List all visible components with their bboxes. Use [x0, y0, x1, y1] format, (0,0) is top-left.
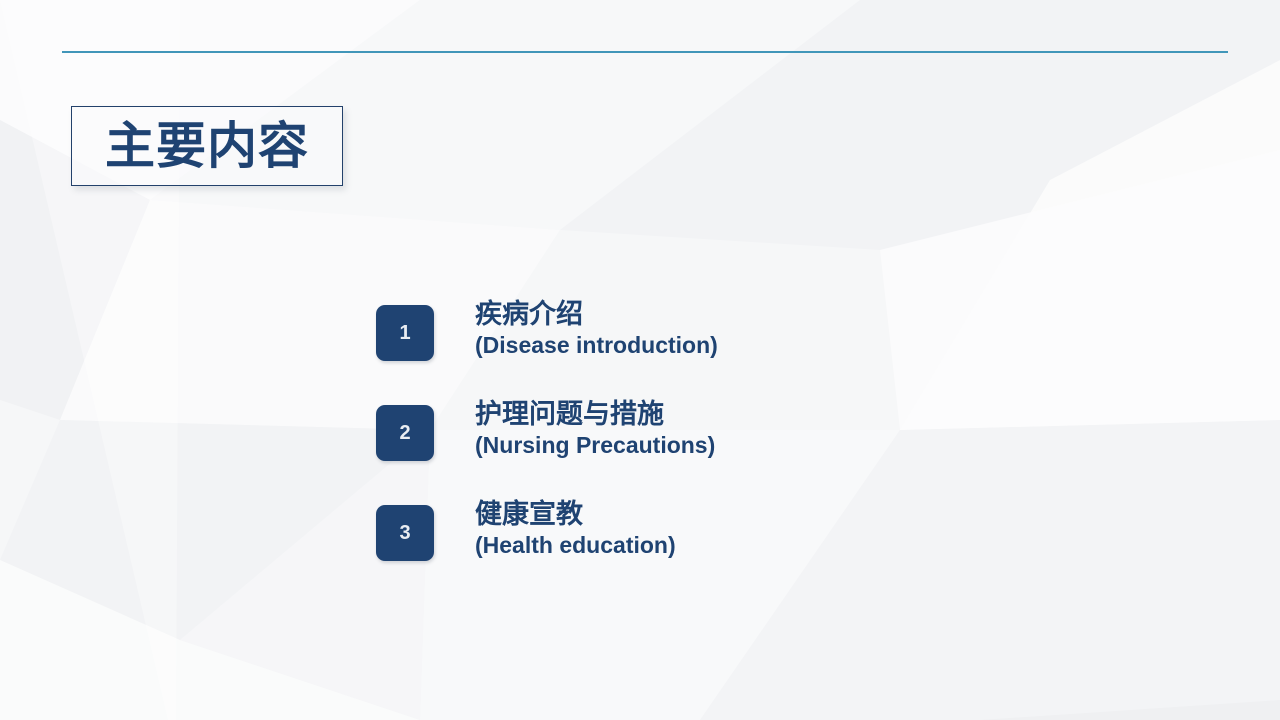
agenda-number-badge: 1 — [376, 305, 434, 361]
page-title: 主要内容 — [105, 121, 309, 171]
agenda-item-title-cn: 疾病介绍 — [475, 299, 718, 331]
agenda-list: 1 疾病介绍 (Disease introduction) 2 护理问题与措施 … — [376, 305, 1136, 605]
agenda-item-title-cn: 健康宣教 — [475, 499, 676, 531]
agenda-item-title-en: (Nursing Precautions) — [475, 432, 715, 460]
agenda-item-text: 疾病介绍 (Disease introduction) — [475, 299, 718, 359]
agenda-number-badge: 2 — [376, 405, 434, 461]
presentation-slide: 主要内容 1 疾病介绍 (Disease introduction) 2 护理问… — [0, 0, 1280, 720]
agenda-number-badge: 3 — [376, 505, 434, 561]
agenda-item-3[interactable]: 3 健康宣教 (Health education) — [376, 505, 1136, 605]
agenda-item-title-cn: 护理问题与措施 — [475, 399, 715, 431]
agenda-item-1[interactable]: 1 疾病介绍 (Disease introduction) — [376, 305, 1136, 405]
agenda-item-text: 健康宣教 (Health education) — [475, 499, 676, 559]
header-accent-rule — [62, 51, 1228, 53]
slide-title-box: 主要内容 — [71, 106, 343, 186]
agenda-item-2[interactable]: 2 护理问题与措施 (Nursing Precautions) — [376, 405, 1136, 505]
agenda-item-title-en: (Health education) — [475, 532, 676, 560]
agenda-item-title-en: (Disease introduction) — [475, 332, 718, 360]
agenda-item-text: 护理问题与措施 (Nursing Precautions) — [475, 399, 715, 459]
